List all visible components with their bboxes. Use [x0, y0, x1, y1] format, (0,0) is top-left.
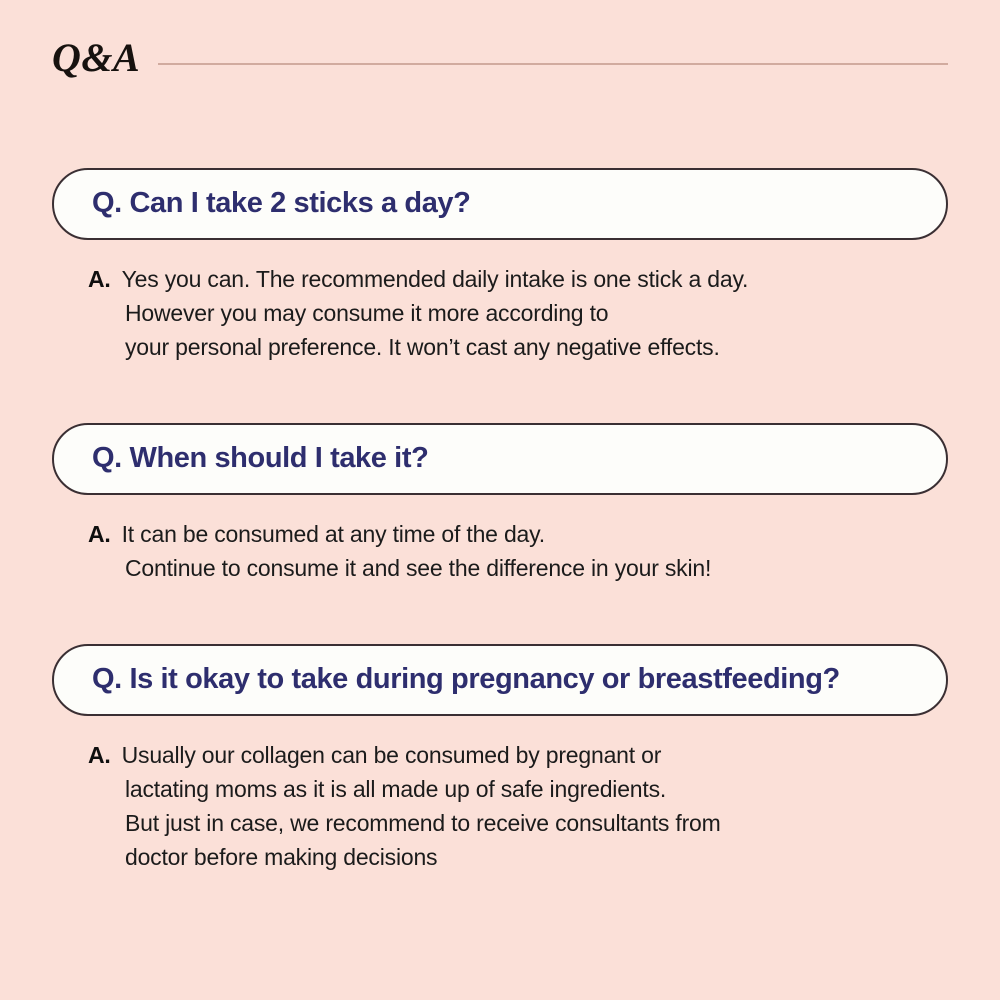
- answer-line: A.Yes you can. The recommended daily int…: [88, 262, 918, 296]
- answer-block: A.Yes you can. The recommended daily int…: [88, 262, 918, 364]
- answer-line: your personal preference. It won’t cast …: [88, 330, 918, 364]
- answer-line: A.It can be consumed at any time of the …: [88, 517, 918, 551]
- answer-line-text: Usually our collagen can be consumed by …: [122, 742, 662, 768]
- question-pill[interactable]: Q. Can I take 2 sticks a day?: [52, 168, 948, 240]
- page-header: Q&A: [52, 34, 948, 82]
- answer-line: But just in case, we recommend to receiv…: [88, 806, 918, 840]
- question-text: Q. Can I take 2 sticks a day?: [54, 188, 494, 220]
- answer-block: A.It can be consumed at any time of the …: [88, 517, 918, 585]
- qa-item: Q. Is it okay to take during pregnancy o…: [0, 644, 1000, 874]
- answer-line: A.Usually our collagen can be consumed b…: [88, 738, 918, 772]
- header-divider: [158, 63, 948, 65]
- question-text: Q. When should I take it?: [54, 443, 452, 475]
- answer-line: However you may consume it more accordin…: [88, 296, 918, 330]
- question-pill[interactable]: Q. When should I take it?: [52, 423, 948, 495]
- qa-item: Q. When should I take it? A.It can be co…: [0, 423, 1000, 585]
- answer-block: A.Usually our collagen can be consumed b…: [88, 738, 918, 874]
- answer-line: lactating moms as it is all made up of s…: [88, 772, 918, 806]
- question-text: Q. Is it okay to take during pregnancy o…: [54, 664, 864, 696]
- answer-marker: A.: [88, 266, 122, 292]
- answer-line-text: It can be consumed at any time of the da…: [122, 521, 545, 547]
- answer-line: doctor before making decisions: [88, 840, 918, 874]
- qa-page: Q&A Q. Can I take 2 sticks a day? A.Yes …: [0, 0, 1000, 1000]
- qa-item: Q. Can I take 2 sticks a day? A.Yes you …: [0, 168, 1000, 364]
- question-pill[interactable]: Q. Is it okay to take during pregnancy o…: [52, 644, 948, 716]
- page-title: Q&A: [52, 38, 158, 78]
- answer-marker: A.: [88, 521, 122, 547]
- answer-line-text: Yes you can. The recommended daily intak…: [122, 266, 749, 292]
- answer-line: Continue to consume it and see the diffe…: [88, 551, 918, 585]
- answer-marker: A.: [88, 742, 122, 768]
